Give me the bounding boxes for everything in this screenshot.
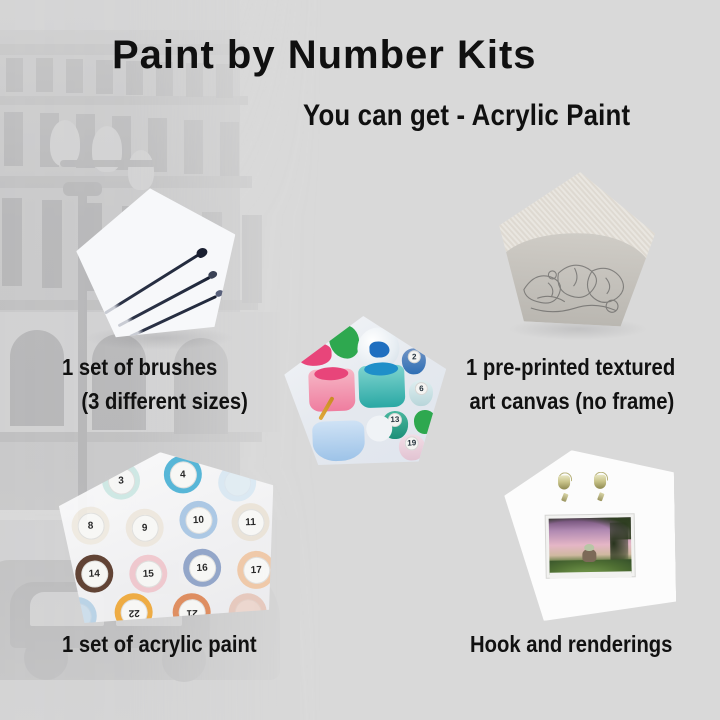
rendering-character-figure xyxy=(582,549,596,562)
wall-hook-2 xyxy=(592,472,608,492)
reference-rendering-print xyxy=(545,514,634,578)
paint-swirl-blue xyxy=(369,341,390,358)
paint-pot-green-closed xyxy=(414,410,437,435)
wall-hook-1 xyxy=(556,472,572,492)
poster-subtitle: You can get - Acrylic Paint xyxy=(303,99,630,133)
rendering-artwork xyxy=(548,517,631,575)
canvas-outline-sketch-icon xyxy=(516,249,638,325)
caption-hook-renderings: Hook and renderings xyxy=(470,627,672,661)
caption-brushes: 1 set of brushes (3 different sizes) xyxy=(62,350,248,418)
product-feature-poster: Paint by Number Kits You can get - Acryl… xyxy=(0,0,720,720)
image-hook-and-renderings xyxy=(504,449,677,622)
poster-title: Paint by Number Kits xyxy=(112,33,537,78)
image-preprinted-canvas xyxy=(494,168,658,336)
caption-canvas: 1 pre-printed textured art canvas (no fr… xyxy=(466,350,675,418)
caption-acrylic-paint: 1 set of acrylic paint xyxy=(62,627,257,661)
